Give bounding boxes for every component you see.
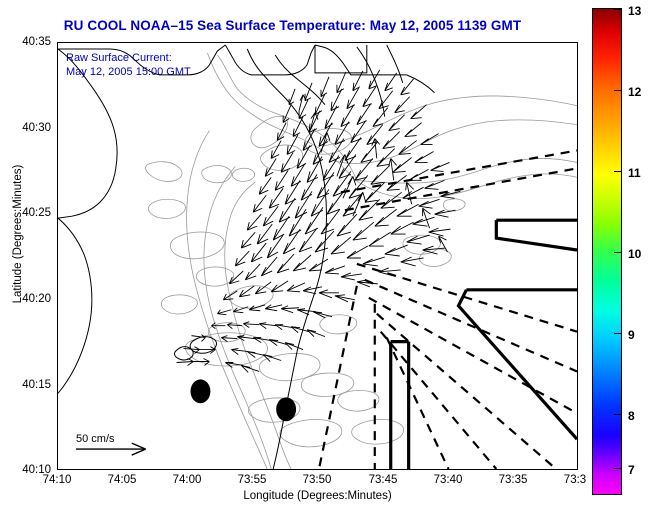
annotation-line-1: Raw Surface Current: — [66, 51, 172, 65]
x-axis-title: Longitude (Degrees:Minutes) — [57, 490, 578, 502]
radar-site-marker-2 — [276, 397, 296, 421]
radar-beam-edges-dashed — [319, 150, 577, 469]
radar-site-marker-1 — [190, 379, 210, 403]
cbtick-label-8: 8 — [628, 409, 635, 423]
cbtick-mark-8 — [614, 414, 622, 415]
cbtick-label-10: 10 — [628, 247, 641, 261]
ytick-label-2: 40:25 — [22, 207, 51, 219]
cbtick-label-13: 13 — [628, 4, 641, 18]
cbtick-mark-13 — [614, 9, 622, 10]
ytick-label-3: 40:20 — [22, 293, 51, 305]
cbtick-mark-9 — [614, 333, 622, 334]
cbtick-label-9: 9 — [628, 328, 635, 342]
cbtick-mark-11 — [614, 171, 622, 172]
cbtick-mark-10 — [614, 252, 622, 253]
bathymetry-contours — [146, 53, 577, 469]
y-axis-title: Latitude (Degrees:Minutes) — [12, 134, 24, 334]
map-graphics-layer — [58, 43, 577, 469]
cbtick-label-12: 12 — [628, 85, 641, 99]
xtick-label-8: 73:3 — [564, 474, 586, 486]
coastline — [58, 45, 435, 469]
current-vector-field — [177, 70, 461, 373]
cbtick-mark-12 — [614, 90, 622, 91]
figure-root: RU COOL NOAA–15 Sea Surface Temperature:… — [0, 0, 651, 515]
annotation-line-2: May 12, 2005 15:00 GMT — [66, 65, 191, 79]
map-plot-area: Raw Surface Current: May 12, 2005 15:00 … — [57, 42, 578, 470]
ytick-label-4: 40:15 — [22, 379, 51, 391]
cbtick-label-7: 7 — [628, 463, 635, 477]
ytick-label-0: 40:35 — [22, 36, 51, 48]
xtick-label-2: 74:00 — [173, 474, 202, 486]
ytick-label-5: 40:10 — [22, 464, 51, 476]
xtick-label-6: 73:40 — [434, 474, 463, 486]
cbtick-mark-7 — [614, 468, 622, 469]
xtick-label-1: 74:05 — [108, 474, 137, 486]
radar-site-markers — [190, 379, 296, 421]
figure-title: RU COOL NOAA–15 Sea Surface Temperature:… — [0, 18, 585, 33]
xtick-label-3: 73:55 — [238, 474, 267, 486]
xtick-label-5: 73:45 — [369, 474, 398, 486]
xtick-label-4: 73:50 — [303, 474, 332, 486]
scalebar-label: 50 cm/s — [76, 433, 115, 445]
cbtick-label-11: 11 — [628, 166, 641, 180]
xtick-label-7: 73:35 — [499, 474, 528, 486]
ytick-label-1: 40:30 — [22, 122, 51, 134]
radar-coverage-beams — [391, 220, 577, 469]
